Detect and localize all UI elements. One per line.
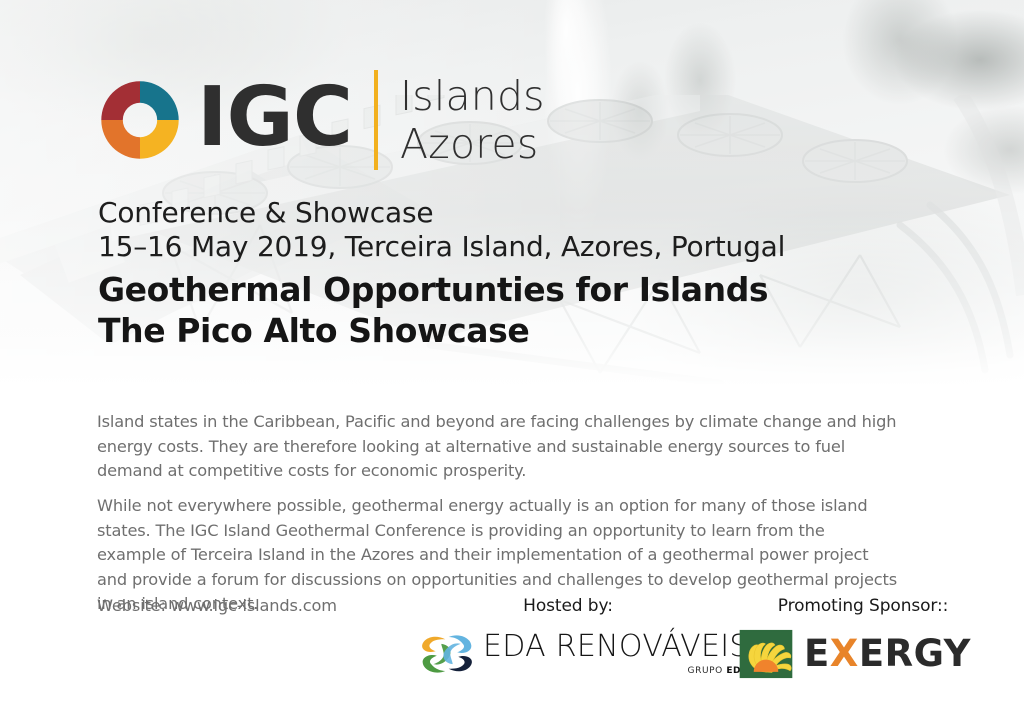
eda-name: EDA RENOVÁVEIS bbox=[483, 631, 749, 663]
hero-banner: IGC Islands Azores Conference & Showcase… bbox=[0, 0, 1024, 384]
hero-title-line-1: Geothermal Opportunties for Islands bbox=[98, 269, 898, 310]
igc-donut-icon bbox=[97, 77, 183, 163]
igc-logo[interactable]: IGC Islands Azores bbox=[97, 70, 545, 170]
exergy-letter-x: X bbox=[830, 632, 859, 675]
logo-subtitle: Islands Azores bbox=[400, 72, 545, 168]
exergy-wordmark: EXERGY bbox=[804, 634, 971, 674]
website-line[interactable]: Website: www.igc-islands.com bbox=[97, 596, 337, 615]
igc-wordmark: IGC bbox=[197, 77, 352, 159]
exergy-letter-e: E bbox=[804, 632, 830, 675]
hero-text-block: Conference & Showcase 15–16 May 2019, Te… bbox=[98, 196, 898, 351]
body-section: Island states in the Caribbean, Pacific … bbox=[0, 384, 1024, 722]
intro-paragraph-1: Island states in the Caribbean, Pacific … bbox=[97, 410, 897, 484]
eda-group-prefix: GRUPO bbox=[688, 666, 727, 676]
hosted-by-label: Hosted by: bbox=[418, 596, 718, 616]
logo-subtitle-line-islands: Islands bbox=[400, 72, 545, 120]
hosted-by-block: Hosted by: EDA RENOVÁVEIS GRUPO EDA bbox=[418, 596, 718, 680]
hero-title-line-2: The Pico Alto Showcase bbox=[98, 310, 898, 351]
eda-wordmark-group: EDA RENOVÁVEIS GRUPO EDA bbox=[483, 631, 749, 677]
promoting-sponsor-label: Promoting Sponsor:: bbox=[738, 596, 988, 616]
logo-divider bbox=[374, 70, 378, 170]
hero-dateline: 15–16 May 2019, Terceira Island, Azores,… bbox=[98, 230, 898, 264]
hero-kicker: Conference & Showcase bbox=[98, 196, 898, 230]
exergy-sun-icon bbox=[738, 628, 794, 680]
logo-subtitle-line-azores: Azores bbox=[400, 120, 545, 168]
promoting-sponsor-block: Promoting Sponsor:: bbox=[738, 596, 988, 680]
exergy-letters-ergy: ERGY bbox=[859, 632, 971, 675]
exergy-logo[interactable]: EXERGY bbox=[738, 628, 988, 680]
conference-poster: IGC Islands Azores Conference & Showcase… bbox=[0, 0, 1024, 722]
eda-swirl-icon bbox=[418, 628, 476, 680]
eda-group-line: GRUPO EDA bbox=[483, 665, 749, 677]
eda-renovaveis-logo[interactable]: EDA RENOVÁVEIS GRUPO EDA bbox=[418, 628, 718, 680]
